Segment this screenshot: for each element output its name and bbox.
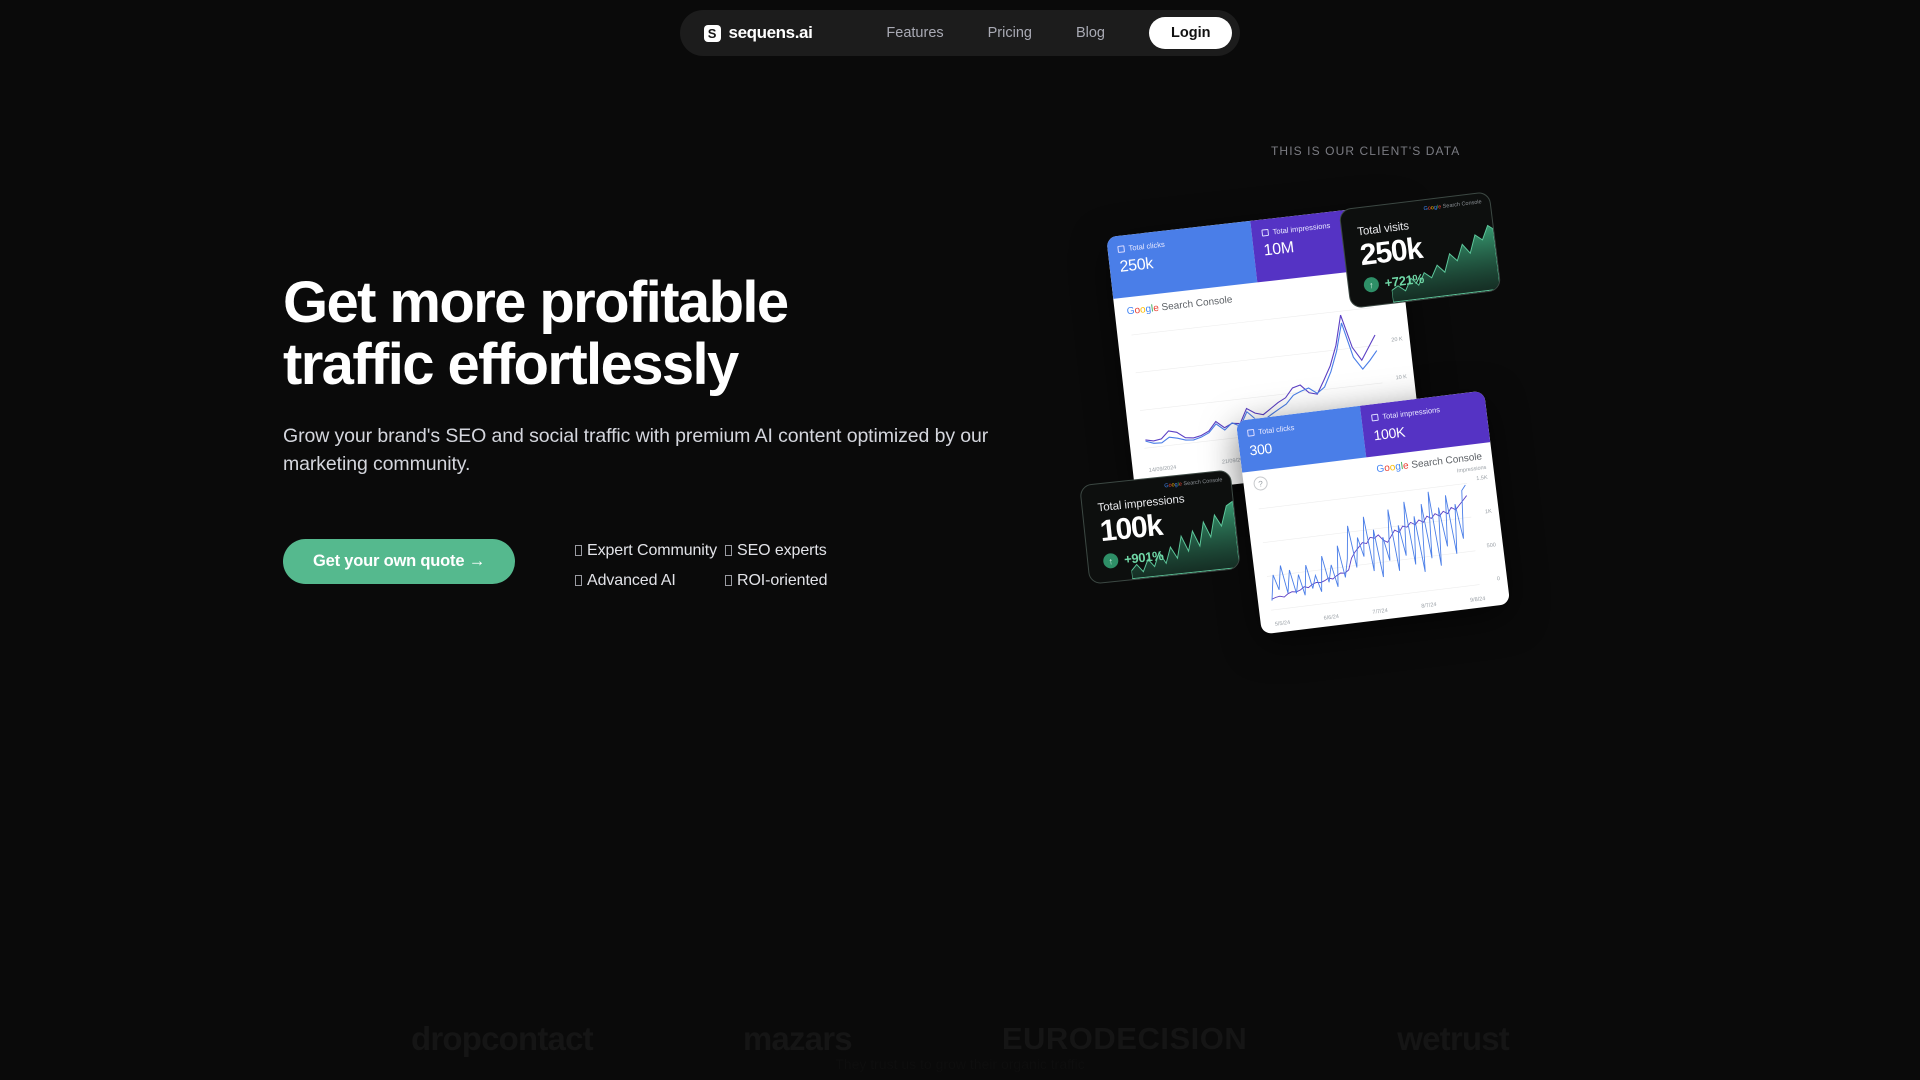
page-title: Get more profitable traffic effortlessly — [283, 272, 1003, 396]
navbar-container: S sequens.ai Features Pricing Blog Login — [0, 10, 1920, 56]
feature-item-advanced-ai: Advanced AI — [575, 572, 725, 590]
get-quote-button[interactable]: Get your own quote → — [283, 539, 515, 584]
feature-label: Advanced AI — [587, 572, 676, 589]
nav-link-features[interactable]: Features — [864, 10, 965, 56]
stat-card-total-impressions: Google Search Console Total impressions … — [1079, 469, 1241, 584]
client-logo-mazars: mazars — [743, 1020, 852, 1058]
navbar: S sequens.ai Features Pricing Blog Login — [680, 10, 1241, 56]
chart-ytick-0: 0 — [1497, 576, 1501, 582]
logo-strip-caption: They trust us to grow their organic traf… — [0, 1056, 1920, 1072]
chart-ytick-1: 500 — [1486, 542, 1496, 549]
arrow-up-icon: ↑ — [1363, 276, 1380, 293]
sequens-logo-icon: S — [704, 25, 721, 42]
feature-item-expert-community: Expert Community — [575, 542, 725, 560]
bullet-glyph-icon — [725, 545, 732, 556]
checkbox-icon[interactable] — [1371, 414, 1379, 422]
stat-card-total-visits: Google Search Console Total visits 250k … — [1338, 191, 1501, 309]
brand-logo[interactable]: S sequens.ai — [704, 23, 813, 43]
hero-subheadline: Grow your brand's SEO and social traffic… — [283, 422, 993, 479]
feature-item-roi-oriented: ROI-oriented — [725, 572, 827, 590]
feature-label: SEO experts — [737, 542, 827, 559]
checkbox-icon[interactable] — [1117, 245, 1125, 253]
brand-name: sequens.ai — [729, 23, 813, 43]
dashboard-visual: Total clicks 250k Total impressions 10M … — [1080, 190, 1600, 730]
nav-link-blog[interactable]: Blog — [1054, 10, 1127, 56]
hero-section: Get more profitable traffic effortlessly… — [283, 272, 1003, 590]
client-logo-dropcontact: dropcontact — [411, 1020, 593, 1058]
hero-feature-list: Expert Community SEO experts Advanced AI… — [575, 542, 827, 590]
headline-line-2: traffic effortlessly — [283, 332, 738, 397]
client-logo-strip: dropcontact mazars EURODECISION wetrust — [0, 1020, 1920, 1058]
client-logo-wetrust: wetrust — [1397, 1020, 1509, 1058]
gsc-bottom-chart: Impressions 1.5K 1K 500 0 5/5/24 6/6/24 … — [1245, 462, 1510, 631]
client-logo-eurodecision: EURODECISION — [1002, 1021, 1247, 1057]
feature-label: ROI-oriented — [737, 572, 827, 589]
bullet-glyph-icon — [575, 575, 582, 586]
checkbox-icon[interactable] — [1261, 229, 1269, 237]
bullet-glyph-icon — [575, 545, 582, 556]
checkbox-icon[interactable] — [1247, 429, 1255, 437]
client-data-label: THIS IS OUR CLIENT'S DATA — [1271, 144, 1460, 158]
arrow-up-icon: ↑ — [1103, 553, 1119, 569]
hero-cta-row: Get your own quote → Expert Community SE… — [283, 539, 1003, 590]
chart-ytick-1: 10 K — [1395, 374, 1407, 381]
feature-item-seo-experts: SEO experts — [725, 542, 827, 560]
chart-plot-area — [1245, 462, 1510, 631]
gsc-card-bottom: Total clicks 300 Total impressions 100K … — [1236, 391, 1510, 635]
headline-line-1: Get more profitable — [283, 270, 788, 335]
chart-ytick-2: 1K — [1485, 509, 1492, 516]
nav-link-pricing[interactable]: Pricing — [966, 10, 1054, 56]
chart-ytick-2: 20 K — [1391, 336, 1403, 343]
feature-label: Expert Community — [587, 542, 717, 559]
bullet-glyph-icon — [725, 575, 732, 586]
login-button[interactable]: Login — [1149, 17, 1232, 49]
